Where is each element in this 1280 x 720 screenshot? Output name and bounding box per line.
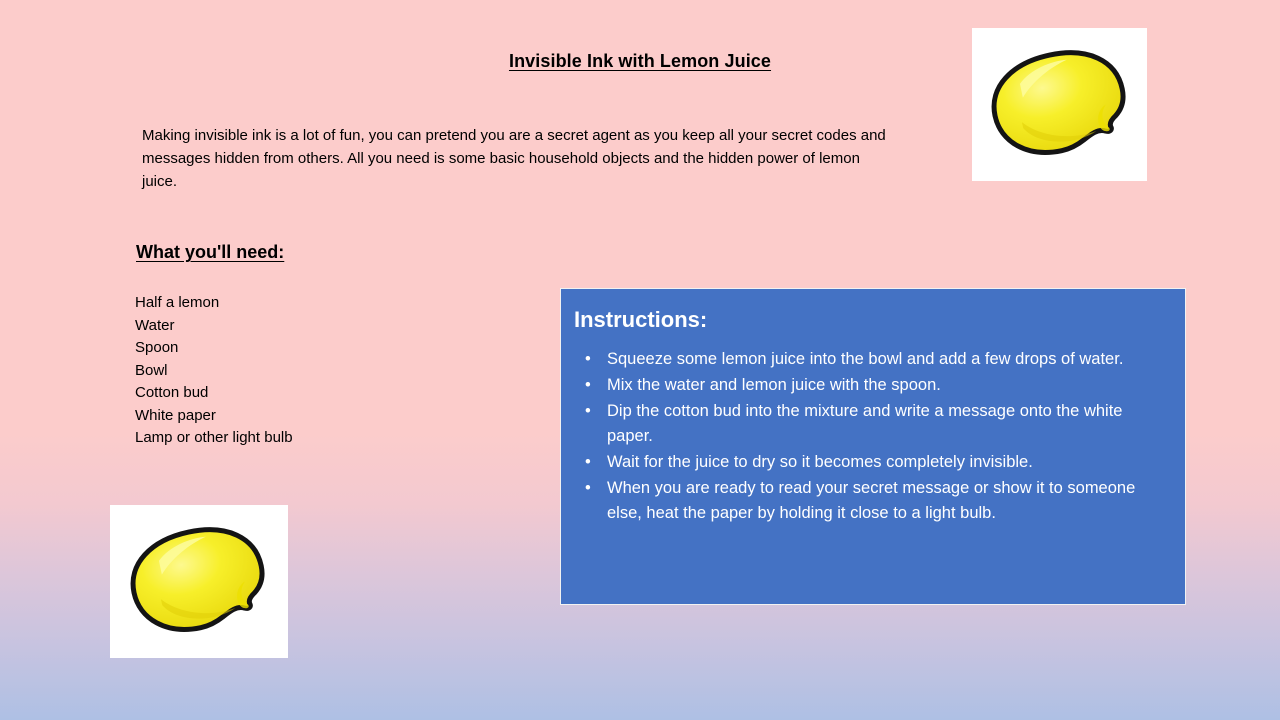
instructions-list: • Squeeze some lemon juice into the bowl… <box>577 347 1171 527</box>
intro-paragraph: Making invisible ink is a lot of fun, yo… <box>142 124 894 193</box>
list-item: • Dip the cotton bud into the mixture an… <box>577 399 1171 449</box>
bullet-icon: • <box>585 399 591 424</box>
materials-heading-text: What you'll need: <box>136 242 284 262</box>
instructions-heading: Instructions: <box>574 307 707 333</box>
slide-canvas: Invisible Ink with Lemon Juice Making in… <box>0 0 1280 720</box>
list-item: Half a lemon <box>135 292 293 315</box>
lemon-icon <box>110 505 288 658</box>
list-item: Cotton bud <box>135 382 293 405</box>
list-item-text: When you are ready to read your secret m… <box>607 479 1135 522</box>
materials-heading: What you'll need: <box>136 242 284 263</box>
page-title-text: Invisible Ink with Lemon Juice <box>509 51 771 71</box>
bullet-icon: • <box>585 450 591 475</box>
list-item: Water <box>135 315 293 338</box>
list-item-text: Mix the water and lemon juice with the s… <box>607 376 941 394</box>
instructions-panel: Instructions: • Squeeze some lemon juice… <box>560 288 1186 605</box>
list-item: White paper <box>135 405 293 428</box>
list-item: Bowl <box>135 360 293 383</box>
list-item: • Squeeze some lemon juice into the bowl… <box>577 347 1171 372</box>
list-item: Spoon <box>135 337 293 360</box>
list-item: • Mix the water and lemon juice with the… <box>577 373 1171 398</box>
list-item-text: Squeeze some lemon juice into the bowl a… <box>607 350 1123 368</box>
list-item-text: Dip the cotton bud into the mixture and … <box>607 402 1122 445</box>
list-item-text: Wait for the juice to dry so it becomes … <box>607 453 1033 471</box>
bullet-icon: • <box>585 373 591 398</box>
lemon-icon <box>972 28 1147 181</box>
list-item: • Wait for the juice to dry so it become… <box>577 450 1171 475</box>
lemon-image-bottom <box>110 505 288 658</box>
list-item: Lamp or other light bulb <box>135 427 293 450</box>
bullet-icon: • <box>585 476 591 501</box>
lemon-image-top <box>972 28 1147 181</box>
materials-list: Half a lemon Water Spoon Bowl Cotton bud… <box>135 292 293 450</box>
bullet-icon: • <box>585 347 591 372</box>
list-item: • When you are ready to read your secret… <box>577 476 1171 526</box>
